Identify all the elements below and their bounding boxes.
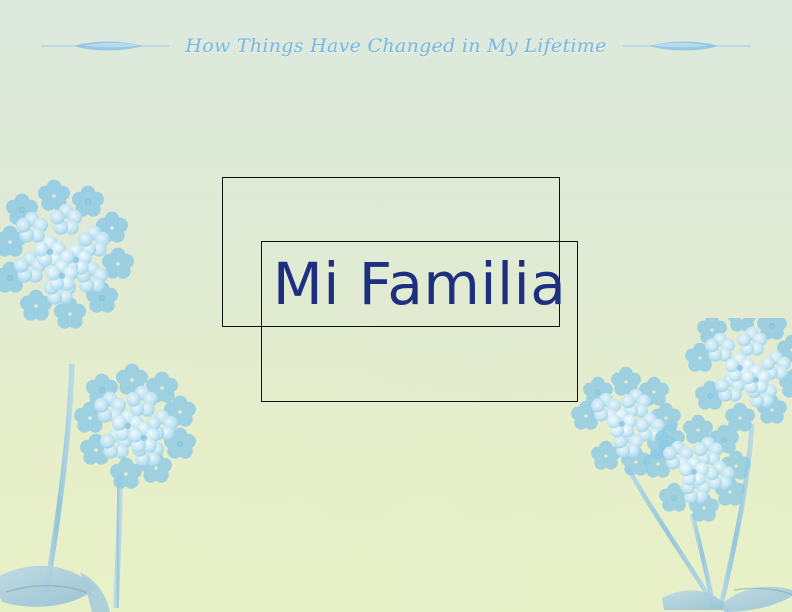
slide-title: Mi Familia (261, 241, 578, 327)
hydrangea-flower-icon-right (566, 318, 792, 612)
flourish-divider-icon-right (621, 35, 753, 57)
hydrangea-flower-icon-left (0, 176, 224, 612)
slide-header: How Things Have Changed in My Lifetime (0, 0, 792, 92)
header-title: How Things Have Changed in My Lifetime (171, 35, 620, 57)
presentation-slide: How Things Have Changed in My Lifetime M… (0, 0, 792, 612)
flourish-divider-icon-left (39, 35, 171, 57)
